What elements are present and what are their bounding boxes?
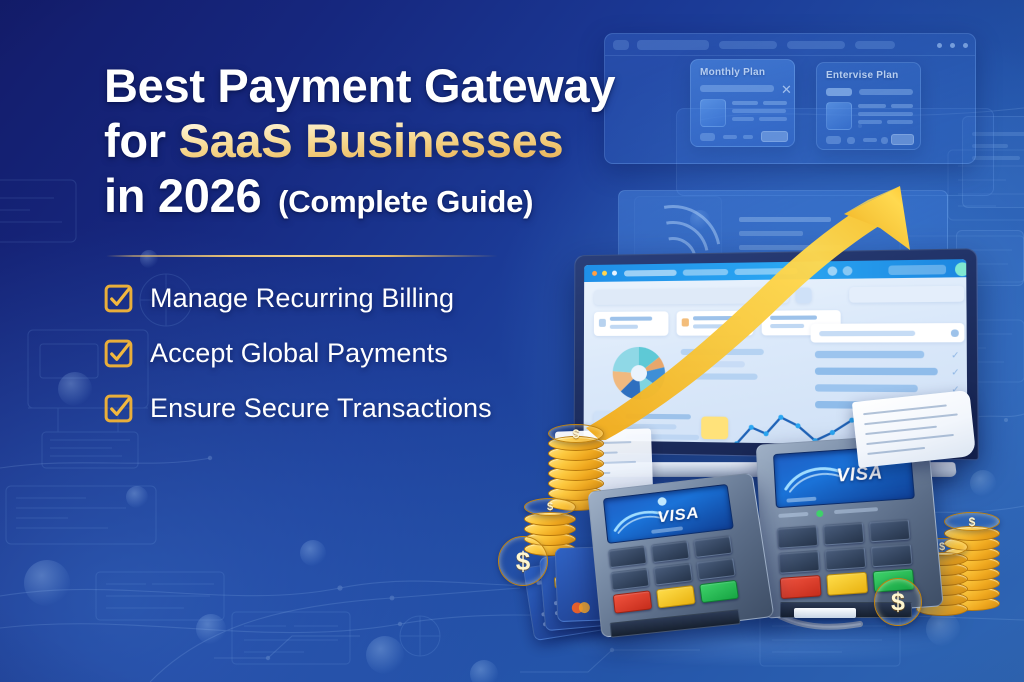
ghost-menu-icon[interactable] [613, 40, 629, 50]
pos-key-cancel[interactable] [613, 590, 652, 614]
checkbox-check-icon [104, 339, 133, 368]
headline-line-3-plain: in 2026 [104, 169, 261, 222]
list-row-1-check-icon: ✓ [951, 351, 960, 361]
pos-screen-hint [786, 497, 816, 503]
coin-dollar-symbol: $ [547, 501, 553, 513]
gold-divider [106, 255, 498, 257]
list-row-header-icon [951, 329, 959, 336]
pos-key[interactable] [651, 540, 690, 563]
feature-bullet-list: Manage Recurring Billing Accept Global P… [104, 283, 664, 424]
list-item-label: Manage Recurring Billing [150, 283, 454, 314]
window-dot-2 [950, 43, 955, 48]
receipt-line [864, 413, 958, 425]
pos-key[interactable] [869, 519, 911, 543]
pos-label-2 [834, 507, 878, 514]
headline-line-3-subtitle: (Complete Guide) [261, 184, 533, 219]
checkbox-check-icon [104, 394, 133, 423]
list-item-label: Accept Global Payments [150, 338, 448, 369]
coin-dollar-symbol: $ [969, 515, 976, 529]
pos-key-enter[interactable] [699, 580, 739, 603]
ghost-tab-2[interactable] [787, 41, 845, 49]
list-item: Manage Recurring Billing [104, 283, 664, 314]
pos-key-clear[interactable] [826, 572, 868, 596]
pos-key[interactable] [693, 535, 732, 558]
pos-key[interactable] [608, 545, 647, 568]
promo-banner: Monthly Plan ✕ Entervise Plan [0, 0, 1024, 682]
hero-text-column: Best Payment Gateway for SaaS Businesses… [104, 58, 664, 448]
headline-line-2-plain: for [104, 114, 179, 167]
pos-body: VISA [587, 473, 774, 638]
coin-top-face: $ [524, 498, 576, 516]
list-item: Accept Global Payments [104, 338, 664, 369]
list-item: Ensure Secure Transactions [104, 393, 664, 424]
receipt-line [866, 434, 954, 445]
receipt-line [863, 404, 947, 415]
visa-logo-text: VISA [656, 503, 700, 527]
pos-key-clear[interactable] [656, 585, 696, 608]
window-dot-3 [963, 43, 968, 48]
headline-line-1: Best Payment Gateway [104, 58, 664, 113]
ghost-window-titlebar [605, 34, 975, 56]
ghost-url-bar[interactable] [637, 40, 709, 50]
pos-inserted-card [794, 608, 856, 618]
pos-key-cancel[interactable] [780, 575, 822, 599]
receipt-line [865, 426, 937, 436]
pos-key[interactable] [825, 547, 867, 571]
pos-key[interactable] [610, 568, 649, 591]
coin-big-front-right: $ [874, 578, 922, 626]
pos-key[interactable] [696, 557, 735, 580]
pos-status-led [816, 510, 823, 517]
coin-dollar-symbol: $ [516, 546, 530, 577]
list-item-label: Ensure Secure Transactions [150, 393, 492, 424]
window-dot-1 [937, 43, 942, 48]
headline-line-3: in 2026 (Complete Guide) [104, 168, 664, 229]
coin-big-front-left: $ [498, 536, 548, 586]
headline-line-2: for SaaS Businesses [104, 113, 664, 168]
pos-key[interactable] [778, 550, 820, 574]
headline-subtitle-text: (Complete Guide) [278, 184, 533, 219]
topbar-avatar[interactable] [955, 262, 967, 276]
ghost-tab-1[interactable] [719, 41, 777, 49]
card-mastercard-icon-2 [579, 602, 590, 613]
pos-key[interactable] [823, 522, 864, 546]
headline-line-2-gold: SaaS Businesses [179, 114, 564, 167]
coin-dollar-symbol: $ [891, 588, 905, 617]
receipt-line [867, 447, 925, 455]
pos-key[interactable] [653, 562, 692, 585]
ghost-tab-3[interactable] [855, 41, 895, 49]
checkbox-check-icon [104, 284, 133, 313]
visa-swoosh-icon [783, 462, 844, 495]
page-title: Best Payment Gateway for SaaS Businesses… [104, 58, 664, 229]
pos-screen: VISA [603, 484, 734, 544]
pos-terminal-left: VISA [594, 478, 784, 648]
printed-receipt [852, 390, 976, 468]
pos-key[interactable] [871, 544, 913, 568]
list-row-2-check-icon: ✓ [951, 368, 960, 378]
